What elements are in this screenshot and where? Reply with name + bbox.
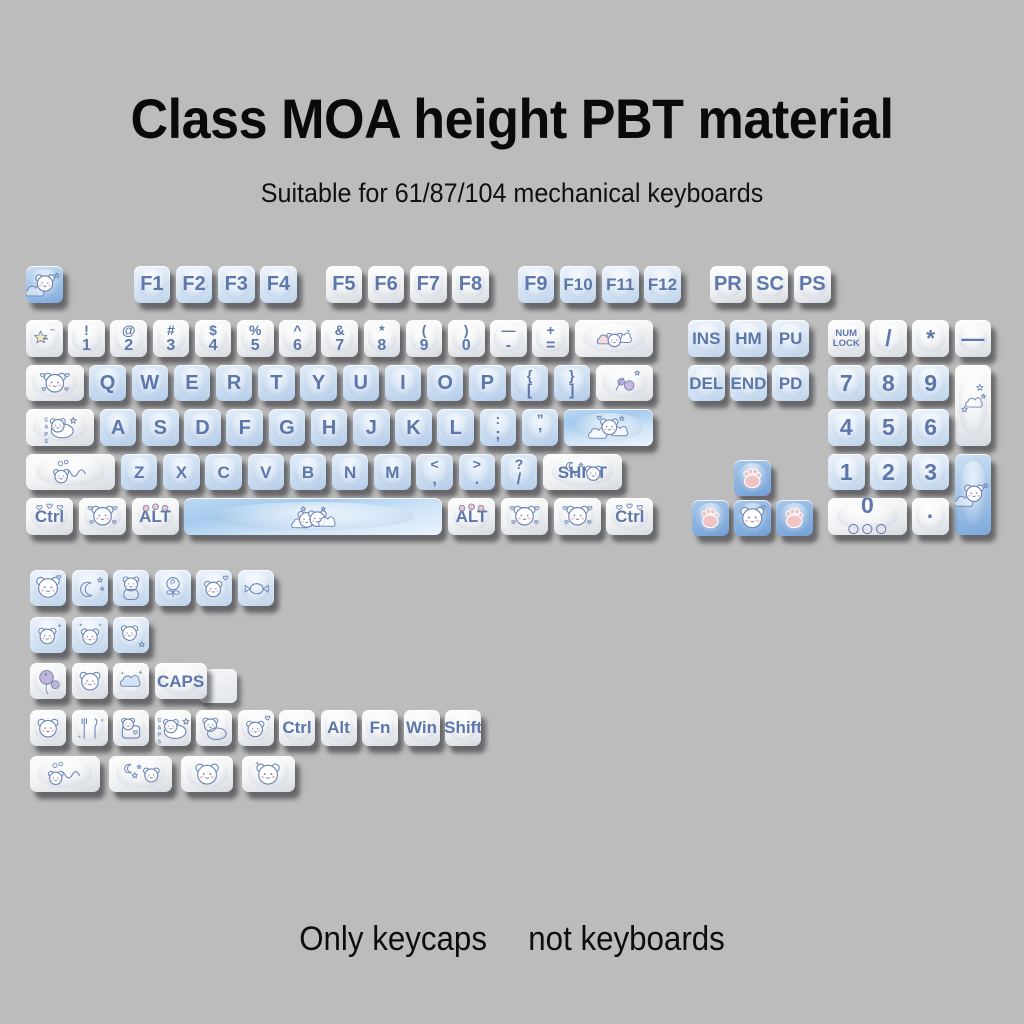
keycap-legend: W (140, 373, 159, 393)
bonus-key-bear-heart[interactable] (196, 570, 232, 606)
keycap-legend: F5 (332, 274, 355, 294)
svg-text:P: P (157, 732, 161, 738)
key-bear-cloud[interactable] (575, 320, 654, 357)
keycap-legend: I (400, 373, 406, 393)
key-G[interactable]: G (269, 409, 306, 446)
keycap-legend: F10 (563, 276, 592, 293)
keycap-legend: INS (692, 330, 720, 347)
key-SHIFT[interactable]: SHIFT (543, 454, 622, 491)
key-f6[interactable]: F6 (368, 266, 405, 303)
bear-face-icon (554, 498, 601, 535)
svg-text:A: A (44, 425, 48, 431)
page-title: Class MOA height PBT material (36, 86, 988, 151)
keycap-legend: NUMLOCK (833, 329, 860, 348)
key-6[interactable]: ^6 (279, 320, 316, 357)
keycap-legend: #3 (166, 323, 175, 354)
key-M[interactable]: M (374, 454, 411, 491)
keycap-legend: F7 (417, 274, 440, 294)
keycap-legend: Ctrl (615, 508, 644, 525)
bear-novelty-icon (26, 266, 63, 303)
bear-face-icon (501, 498, 548, 535)
key-f9[interactable]: F9 (518, 266, 555, 303)
key-pd[interactable]: PD (772, 365, 809, 402)
keycap-legend: :; (495, 412, 500, 443)
bear-sparkle-icon (30, 617, 66, 653)
key-.[interactable]: >. (459, 454, 496, 491)
bear-body-icon (113, 570, 149, 606)
key-esc[interactable] (26, 266, 63, 303)
keycap-legend: V (260, 464, 271, 481)
svg-text:P: P (44, 432, 48, 438)
keycap-legend: A (111, 418, 125, 438)
keycap-legend: F11 (606, 276, 634, 293)
keycap-legend: PD (779, 375, 803, 392)
keycap-legend: F1 (140, 274, 163, 294)
key-Y[interactable]: Y (300, 365, 337, 402)
bear-cloud-icon (575, 320, 654, 357)
bonus-key-bear-blush[interactable] (72, 663, 108, 699)
bear-sleep-icon: CAPS (26, 409, 94, 446)
key-L[interactable]: L (437, 409, 474, 446)
bonus-key-bear-face-blue[interactable] (30, 570, 66, 606)
lollipop-icon (155, 570, 191, 606)
key-O[interactable]: O (427, 365, 464, 402)
bear-face-blue-icon (30, 570, 66, 606)
key-arrow-right[interactable] (776, 500, 813, 537)
key-ALT[interactable]: ALT (132, 498, 179, 535)
key-8[interactable]: *8 (364, 320, 401, 357)
bear-box-icon (113, 710, 149, 746)
key-bear-wave[interactable] (26, 454, 115, 491)
keycap-legend: F4 (267, 274, 290, 294)
key-H[interactable]: H (311, 409, 348, 446)
svg-text:S: S (44, 439, 48, 445)
keycap-legend: R (227, 373, 241, 393)
moon-star-bear-icon (109, 756, 172, 792)
key-f12[interactable]: F12 (644, 266, 681, 303)
key-numpad-num-lock[interactable]: NUMLOCK (828, 320, 865, 357)
key-[[interactable]: {[ (511, 365, 548, 402)
key-numpad-5[interactable]: 5 (870, 409, 907, 446)
product-image: Class MOA height PBT material Suitable f… (0, 0, 1024, 1024)
keycap-legend: U (354, 373, 368, 393)
key-R[interactable]: R (216, 365, 253, 402)
keycap-legend: Fn (370, 719, 391, 736)
bonus-key-shift[interactable]: Shift (445, 710, 481, 746)
keycap-legend: D (195, 418, 209, 438)
keycap-legend: &7 (335, 323, 345, 354)
key-spacebar-scene[interactable] (184, 498, 442, 535)
keycap-legend: L (450, 418, 462, 438)
keycap-legend: · (927, 505, 935, 528)
key-hm[interactable]: HM (730, 320, 767, 357)
bonus-key-moon-stars[interactable] (72, 570, 108, 606)
bear-face-icon (26, 365, 84, 402)
bear-blush-icon (30, 710, 66, 746)
key-f5[interactable]: F5 (326, 266, 363, 303)
bear-blush-icon (72, 663, 108, 699)
key-0[interactable]: )0 (448, 320, 485, 357)
keycap-legend: HM (735, 330, 761, 347)
bonus-key-bear-sparkle2[interactable] (72, 617, 108, 653)
key-pu[interactable]: PU (772, 320, 809, 357)
paw-icon (692, 500, 729, 537)
keycap-legend: ?/ (515, 457, 524, 488)
keycap-legend: <, (431, 457, 439, 488)
keycap-legend: {[ (527, 368, 532, 399)
bonus-key-alt[interactable]: Alt (321, 710, 357, 746)
key-Ctrl[interactable]: Ctrl (26, 498, 73, 535)
key-numpad-7[interactable]: 7 (828, 365, 865, 402)
key-][interactable]: }] (554, 365, 591, 402)
keycap-legend: F12 (648, 276, 677, 293)
keycap-legend: F9 (524, 274, 547, 294)
cutlery-icon (72, 710, 108, 746)
keycap-legend: G (279, 418, 295, 438)
key-del[interactable]: DEL (688, 365, 725, 402)
keycap-legend: 5 (882, 416, 895, 439)
bonus-key-cutlery[interactable] (72, 710, 108, 746)
key-ALT[interactable]: ALT (448, 498, 495, 535)
bear-stand-icon (196, 710, 232, 746)
key-;[interactable]: :; (480, 409, 517, 446)
key-numpad-3[interactable]: 3 (912, 454, 949, 491)
bear-sparkle2-icon (72, 617, 108, 653)
key-Z[interactable]: Z (121, 454, 158, 491)
key-f3[interactable]: F3 (218, 266, 255, 303)
bonus-key-caps[interactable]: CAPS (155, 663, 207, 699)
keycap-legend: * (926, 327, 935, 350)
keycap-legend: PR (714, 274, 742, 294)
keycap-legend: F2 (182, 274, 205, 294)
svg-text:C: C (157, 718, 161, 724)
bear-big-icon (181, 756, 233, 792)
key-numpad-6[interactable]: 6 (912, 409, 949, 446)
footnote: Only keycaps not keyboards (41, 920, 983, 959)
key-berry[interactable] (596, 365, 654, 402)
key--[interactable]: —- (490, 320, 527, 357)
spacebar-scene-icon (184, 498, 442, 535)
keycap-legend: ”’ (537, 412, 544, 443)
bonus-key-win[interactable]: Win (404, 710, 440, 746)
bonus-key-ctrl[interactable]: Ctrl (279, 710, 315, 746)
keycap-legend: 0○○○ (847, 498, 889, 535)
key-arrow-down[interactable] (734, 500, 771, 537)
key-f2[interactable]: F2 (176, 266, 213, 303)
keycap-legend: )0 (462, 323, 471, 354)
keycap-legend: S (154, 418, 167, 438)
keycap-legend: 9 (924, 372, 937, 395)
key-numpad-1[interactable]: 1 (828, 454, 865, 491)
key-numpad-9[interactable]: 9 (912, 365, 949, 402)
keycap-legend: 7 (840, 372, 853, 395)
key-ps[interactable]: PS (794, 266, 831, 303)
key-E[interactable]: E (174, 365, 211, 402)
keycap-legend: F (239, 418, 251, 438)
keycap-legend: Shift (445, 719, 481, 736)
key-4[interactable]: $4 (195, 320, 232, 357)
keycap-legend: PU (779, 330, 803, 347)
key-arrow-left[interactable] (692, 500, 729, 537)
key-numpad-*[interactable]: * (912, 320, 949, 357)
candy-icon (238, 570, 274, 606)
keycap-legend: 6 (924, 416, 937, 439)
key-1[interactable]: !1 (68, 320, 105, 357)
keycap-legend: @2 (122, 323, 136, 354)
key-numpad-8[interactable]: 8 (870, 365, 907, 402)
key-numpad-0[interactable]: 0○○○ (828, 498, 907, 535)
bear-wave-icon (30, 756, 100, 792)
footnote-right: not keyboards (528, 920, 725, 958)
bear-star-icon (113, 617, 149, 653)
keycap-legend: Y (312, 373, 325, 393)
key-K[interactable]: K (395, 409, 432, 446)
svg-text:C: C (44, 418, 48, 424)
keycap-legend: 2 (882, 461, 895, 484)
keycap-legend: / (885, 327, 891, 350)
paw-icon (776, 500, 813, 537)
keycap-legend: X (176, 464, 187, 481)
bear-cloud-scene-icon (564, 409, 653, 446)
key-B[interactable]: B (290, 454, 327, 491)
bear-sleep-icon: CAPS (155, 710, 191, 746)
key-F[interactable]: F (226, 409, 263, 446)
bear-heart-icon (238, 710, 274, 746)
key-C[interactable]: C (205, 454, 242, 491)
key-7[interactable]: &7 (321, 320, 358, 357)
key-f4[interactable]: F4 (260, 266, 297, 303)
keycap-legend: 4 (840, 416, 853, 439)
bear-face-icon (79, 498, 126, 535)
key-3[interactable]: #3 (153, 320, 190, 357)
cloud-stars-icon (955, 365, 992, 446)
keycap-legend: }] (569, 368, 574, 399)
moon-stars-icon (72, 570, 108, 606)
key-/[interactable]: ?/ (501, 454, 538, 491)
key-9[interactable]: (9 (406, 320, 443, 357)
key-bear-face[interactable] (501, 498, 548, 535)
key-numpad-—[interactable]: — (955, 320, 992, 357)
key-J[interactable]: J (353, 409, 390, 446)
key-T[interactable]: T (258, 365, 295, 402)
key-X[interactable]: X (163, 454, 200, 491)
keycap-legend: $4 (209, 323, 218, 354)
keycap-legend: Ctrl (35, 508, 64, 525)
key-numpad-bear-novelty[interactable] (955, 454, 992, 535)
key-ins[interactable]: INS (688, 320, 725, 357)
keycap-legend: 3 (924, 461, 937, 484)
bonus-key-balloon[interactable] (30, 663, 66, 699)
keycap-legend: Win (406, 719, 437, 736)
key-2[interactable]: @2 (110, 320, 147, 357)
keycap-legend: ALT (456, 508, 488, 525)
key-f1[interactable]: F1 (134, 266, 171, 303)
key-5[interactable]: %5 (237, 320, 274, 357)
keycap-legend: (9 (420, 323, 429, 354)
bonus-key-bear-big2[interactable] (242, 756, 294, 792)
keycap-legend: E (185, 373, 198, 393)
keycap-legend: F3 (225, 274, 248, 294)
keycap-legend: PS (799, 274, 826, 294)
keycap-legend: ALT (139, 508, 171, 525)
keycap-legend: T (270, 373, 282, 393)
bonus-key-bear-blush[interactable] (30, 710, 66, 746)
balloon-icon (30, 663, 66, 699)
key-end[interactable]: END (730, 365, 767, 402)
bonus-key-cloud-sparkle[interactable] (113, 663, 149, 699)
key-numpad-·[interactable]: · (912, 498, 949, 535)
keycap-legend: —- (501, 323, 515, 354)
bonus-key-fn[interactable]: Fn (362, 710, 398, 746)
bonus-key-moon-star-bear[interactable] (109, 756, 172, 792)
keycap-legend: H (322, 418, 336, 438)
bonus-key-bear-body[interactable] (113, 570, 149, 606)
key-’[interactable]: ”’ (522, 409, 559, 446)
key-D[interactable]: D (184, 409, 221, 446)
keycap-legend: F8 (459, 274, 482, 294)
key-bear-face[interactable] (79, 498, 126, 535)
keycap-legend: Ctrl (282, 719, 311, 736)
bonus-key-lollipop[interactable] (155, 570, 191, 606)
key-S[interactable]: S (142, 409, 179, 446)
bonus-key-bear-stand[interactable] (196, 710, 232, 746)
svg-text:A: A (157, 725, 161, 731)
key-pr[interactable]: PR (710, 266, 747, 303)
cloud-sparkle-icon (113, 663, 149, 699)
keycap-legend: SHIFT (558, 464, 607, 481)
keycap-legend: *8 (377, 323, 386, 354)
key-,[interactable]: <, (416, 454, 453, 491)
keycap-legend: ^6 (293, 323, 302, 354)
page-subtitle: Suitable for 61/87/104 mechanical keyboa… (36, 178, 988, 209)
keycap-legend: M (385, 464, 399, 481)
svg-text:S: S (157, 739, 161, 745)
keycap-legend: K (406, 418, 420, 438)
key-I[interactable]: I (385, 365, 422, 402)
keycap-legend: P (481, 373, 494, 393)
keycap-legend: N (344, 464, 356, 481)
footnote-left: Only keycaps (299, 920, 487, 958)
keycap-legend: %5 (249, 323, 261, 354)
keycap-legend: Z (134, 464, 144, 481)
key-star[interactable]: ~~ (26, 320, 63, 357)
key-numpad-4[interactable]: 4 (828, 409, 865, 446)
berry-icon (596, 365, 654, 402)
key-f8[interactable]: F8 (452, 266, 489, 303)
keycap-legend: ~ (40, 331, 48, 346)
bear-face-blue-icon (734, 500, 771, 537)
key-CAPS[interactable]: CAPS (26, 409, 94, 446)
keycap-legend: += (546, 323, 555, 354)
bear-novelty-icon (955, 454, 992, 535)
bonus-key-bear-wave[interactable] (30, 756, 100, 792)
key-numpad-2[interactable]: 2 (870, 454, 907, 491)
bonus-key-bear-sleep[interactable]: CAPS (155, 710, 191, 746)
bonus-key-bear-heart[interactable] (238, 710, 274, 746)
bear-wave-icon (26, 454, 115, 491)
keycap-legend: !1 (82, 323, 91, 354)
key-f7[interactable]: F7 (410, 266, 447, 303)
key-P[interactable]: P (469, 365, 506, 402)
keycap-legend: — (961, 327, 984, 350)
keycap-legend: B (302, 464, 314, 481)
key-numpad-cloud-stars[interactable] (955, 365, 992, 446)
key-V[interactable]: V (248, 454, 285, 491)
key-Ctrl[interactable]: Ctrl (606, 498, 653, 535)
key-N[interactable]: N (332, 454, 369, 491)
keycap-legend: Alt (327, 719, 350, 736)
bonus-key-bear-star[interactable] (113, 617, 149, 653)
bonus-key-candy[interactable] (238, 570, 274, 606)
key-f11[interactable]: F11 (602, 266, 639, 303)
keycap-legend: SC (756, 274, 784, 294)
keycap-legend: DEL (689, 375, 723, 392)
key-A[interactable]: A (100, 409, 137, 446)
bonus-key-bear-sparkle[interactable] (30, 617, 66, 653)
keycap-legend: CAPS (157, 673, 204, 690)
key-bear-face[interactable] (554, 498, 601, 535)
keycap-legend: F6 (374, 274, 397, 294)
bonus-key-bear-box[interactable] (113, 710, 149, 746)
keycap-legend: 1 (840, 461, 853, 484)
keycap-legend: O (437, 373, 453, 393)
key-=[interactable]: += (532, 320, 569, 357)
bear-heart-icon (196, 570, 232, 606)
key-Q[interactable]: Q (89, 365, 126, 402)
key-bear-cloud-scene[interactable] (564, 409, 653, 446)
keycap-legend: END (730, 375, 766, 392)
key-U[interactable]: U (343, 365, 380, 402)
keycap-legend: >. (473, 457, 481, 488)
keycap-legend: J (366, 418, 377, 438)
bear-big2-icon (242, 756, 294, 792)
key-sc[interactable]: SC (752, 266, 789, 303)
key-numpad-/[interactable]: / (870, 320, 907, 357)
keycap-legend: C (217, 464, 229, 481)
bonus-key-bear-big[interactable] (181, 756, 233, 792)
paw-icon (734, 460, 771, 497)
keycap-legend: Q (100, 373, 116, 393)
key-W[interactable]: W (132, 365, 169, 402)
key-bear-face[interactable] (26, 365, 84, 402)
key-f10[interactable]: F10 (560, 266, 597, 303)
key-arrow-up[interactable] (734, 460, 771, 497)
svg-text:~: ~ (50, 326, 55, 335)
keycap-legend: 8 (882, 372, 895, 395)
